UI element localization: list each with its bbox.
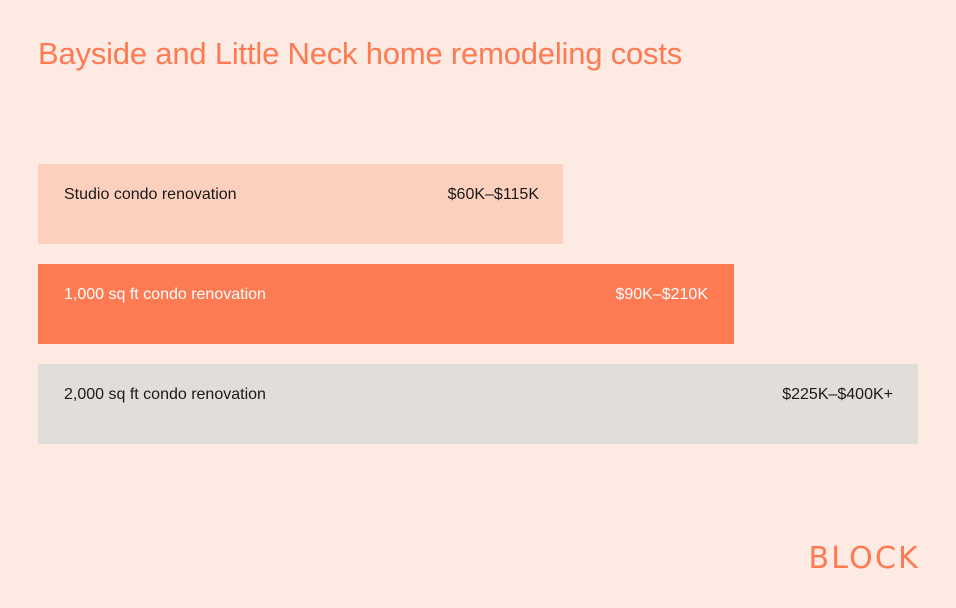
block-logo: BLOCK xyxy=(809,544,920,574)
bar-row: 2,000 sq ft condo renovation $225K–$400K… xyxy=(38,364,928,444)
bar-label: 2,000 sq ft condo renovation xyxy=(64,385,266,405)
bar-value: $60K–$115K xyxy=(448,185,539,205)
bar-1000-sqft-condo-renovation: 1,000 sq ft condo renovation $90K–$210K xyxy=(38,264,734,344)
chart-page: Bayside and Little Neck home remodeling … xyxy=(0,0,956,608)
bar-label: 1,000 sq ft condo renovation xyxy=(64,285,266,305)
bar-chart: Studio condo renovation $60K–$115K 1,000… xyxy=(38,164,928,464)
page-title: Bayside and Little Neck home remodeling … xyxy=(38,33,682,75)
bar-row: Studio condo renovation $60K–$115K xyxy=(38,164,928,244)
bar-label: Studio condo renovation xyxy=(64,185,237,205)
bar-studio-condo-renovation: Studio condo renovation $60K–$115K xyxy=(38,164,563,244)
bar-value: $225K–$400K+ xyxy=(782,385,893,405)
bar-2000-sqft-condo-renovation: 2,000 sq ft condo renovation $225K–$400K… xyxy=(38,364,918,444)
bar-value: $90K–$210K xyxy=(615,285,708,305)
bar-row: 1,000 sq ft condo renovation $90K–$210K xyxy=(38,264,928,344)
